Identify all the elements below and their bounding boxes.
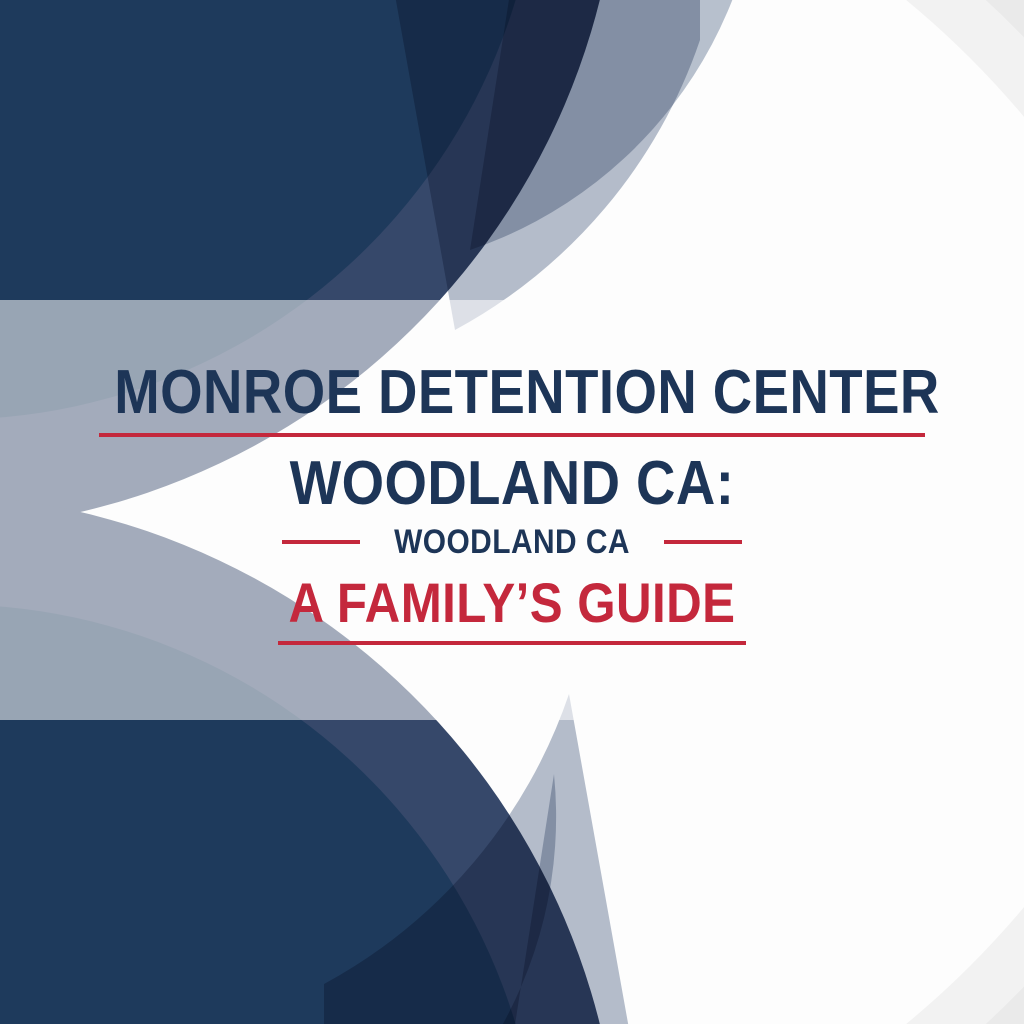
tagline-text: A FAMILY’S GUIDE xyxy=(114,575,910,631)
subtitle-dash-left xyxy=(282,540,360,544)
title-block: MONROE DETENTION CENTER WOODLAND CA: WOO… xyxy=(0,362,1024,645)
title-divider-rule xyxy=(99,433,925,437)
subtitle-text: WOODLAND CA xyxy=(394,525,630,559)
subtitle-row: WOODLAND CA xyxy=(60,525,964,559)
poster-canvas: MONROE DETENTION CENTER WOODLAND CA: WOO… xyxy=(0,0,1024,1024)
tagline-underline-rule xyxy=(278,641,746,645)
page-title-line-2: WOODLAND CA: xyxy=(114,453,910,515)
subtitle-dash-right xyxy=(664,540,742,544)
page-title-line-1: MONROE DETENTION CENTER xyxy=(114,362,910,424)
